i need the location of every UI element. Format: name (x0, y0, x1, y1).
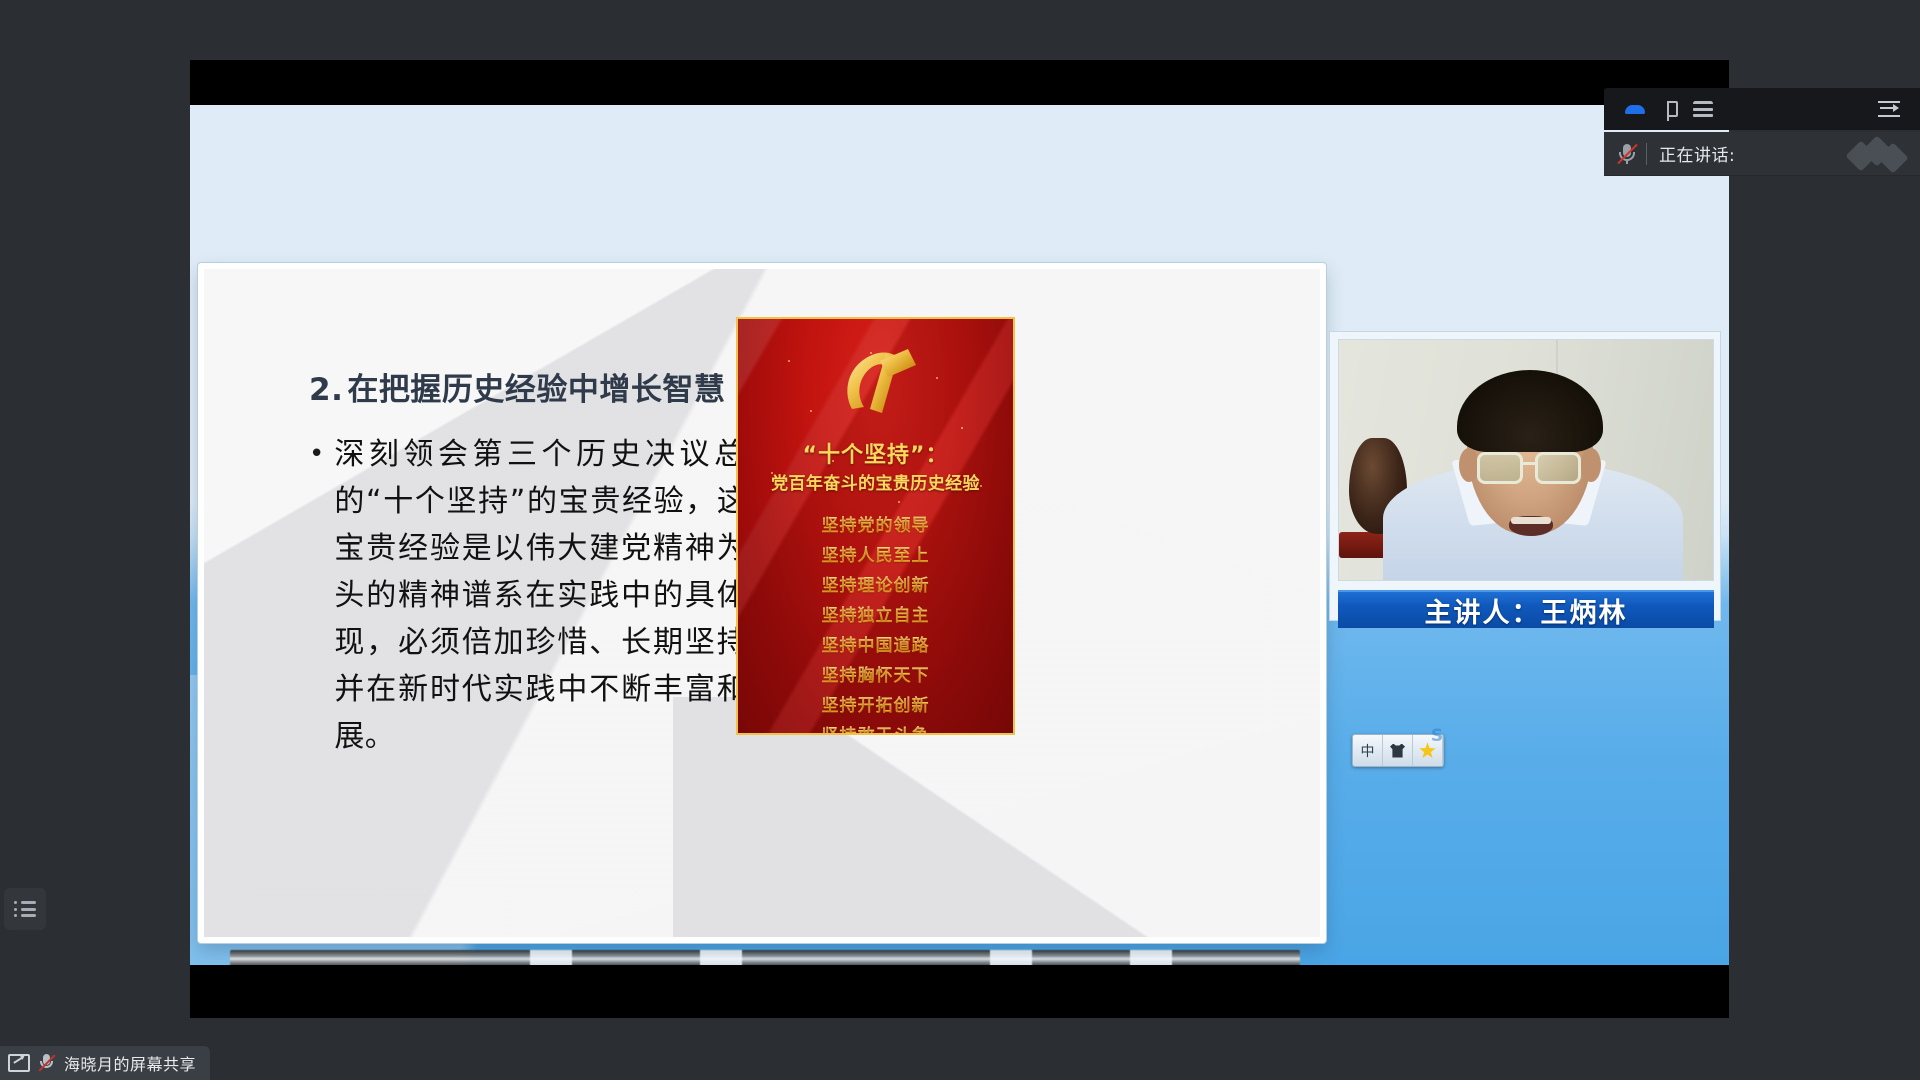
ime-skin-button[interactable] (1383, 735, 1413, 766)
slide-heading: 2.在把握历史经验中增长智慧 (309, 364, 779, 409)
list-icon (14, 901, 36, 917)
app-root: 2.在把握历史经验中增长智慧 • 深刻领会第三个历史决议总结的“十个坚持”的宝贵… (0, 0, 1920, 1080)
ime-toolbar[interactable]: 中 S (1352, 734, 1444, 767)
window-restore-icon (1660, 101, 1678, 117)
presenter-webcam (1338, 339, 1714, 581)
collapse-arrow-icon (1878, 100, 1900, 118)
slide-text-column: 2.在把握历史经验中增长智慧 • 深刻领会第三个历史决议总结的“十个坚持”的宝贵… (309, 364, 779, 760)
speaking-label: 正在讲话: (1659, 141, 1735, 166)
menu-button[interactable] (1686, 94, 1720, 124)
cam-ear-left (1459, 448, 1479, 482)
collapse-button[interactable] (1872, 94, 1906, 124)
poster-list-item: 坚持理论创新 (822, 571, 930, 596)
poster-list-item: 坚持人民至上 (822, 541, 930, 566)
whiteboard-panel: 2.在把握历史经验中增长智慧 • 深刻领会第三个历史决议总结的“十个坚持”的宝贵… (198, 263, 1326, 943)
poster-list-item: 坚持党的领导 (822, 511, 930, 536)
participants-list-button[interactable] (4, 888, 46, 930)
meeting-control-bar[interactable] (1604, 88, 1920, 130)
cam-glasses-right (1535, 452, 1581, 484)
minimize-icon (1625, 105, 1645, 114)
whiteboard-tray (230, 950, 1300, 965)
ime-sogou-badge: S (1426, 726, 1448, 746)
cam-person-teeth (1511, 517, 1551, 524)
poster-list-item: 坚持敢于斗争 (822, 721, 930, 735)
poster-title-line2: 党百年奋斗的宝贵历史经验 (738, 469, 1013, 494)
ime-skin-icon (1390, 744, 1405, 758)
bullet-marker: • (309, 431, 324, 760)
slide-heading-text: 在把握历史经验中增长智慧 (347, 372, 725, 408)
window-restore-button[interactable] (1652, 94, 1686, 124)
speaking-status-panel[interactable]: 正在讲话: (1604, 132, 1920, 176)
screen-share-icon (8, 1054, 30, 1072)
taskbar: 海晓月的屏幕共享 (0, 1040, 1920, 1080)
mic-muted-icon[interactable] (1616, 142, 1638, 166)
poster-list-item: 坚持独立自主 (822, 601, 930, 626)
slide-heading-number: 2. (309, 372, 343, 408)
shared-screen-stage[interactable]: 2.在把握历史经验中增长智慧 • 深刻领会第三个历史决议总结的“十个坚持”的宝贵… (190, 60, 1729, 1018)
hamburger-menu-icon (1693, 101, 1713, 117)
poster-list-item: 坚持开拓创新 (822, 691, 930, 716)
mic-muted-icon (38, 1053, 56, 1073)
party-poster-image: “十个坚持”： 党百年奋斗的宝贵历史经验 坚持党的领导 坚持人民至上 坚持理论创… (736, 317, 1015, 735)
cam-glasses-bridge (1523, 462, 1535, 465)
poster-list-item: 坚持中国道路 (822, 631, 930, 656)
minimize-button[interactable] (1618, 94, 1652, 124)
cam-glasses-left (1477, 452, 1523, 484)
slide-bullet-block: • 深刻领会第三个历史决议总结的“十个坚持”的宝贵经验，这些宝贵经验是以伟大建党… (309, 431, 779, 760)
ime-language-toggle[interactable]: 中 (1353, 735, 1383, 766)
diamond-logo-icon (1850, 141, 1908, 167)
screen-share-label: 海晓月的屏幕共享 (64, 1051, 196, 1075)
poster-title-line1: “十个坚持”： (738, 437, 1013, 469)
presenter-name-banner: 主讲人：王炳林 (1338, 590, 1714, 628)
presenter-video-tile[interactable]: 主讲人：王炳林 (1329, 331, 1721, 621)
screen-share-taskbar-chip[interactable]: 海晓月的屏幕共享 (0, 1046, 210, 1080)
slide-bullet-text: 深刻领会第三个历史决议总结的“十个坚持”的宝贵经验，这些宝贵经验是以伟大建党精神… (334, 431, 779, 760)
hammer-and-sickle-emblem (824, 335, 928, 431)
poster-list-item: 坚持胸怀天下 (822, 661, 930, 686)
poster-items-list: 坚持党的领导 坚持人民至上 坚持理论创新 坚持独立自主 坚持中国道路 坚持胸怀天… (738, 511, 1013, 735)
panel-divider (1646, 143, 1647, 165)
cam-ear-right (1581, 448, 1601, 482)
